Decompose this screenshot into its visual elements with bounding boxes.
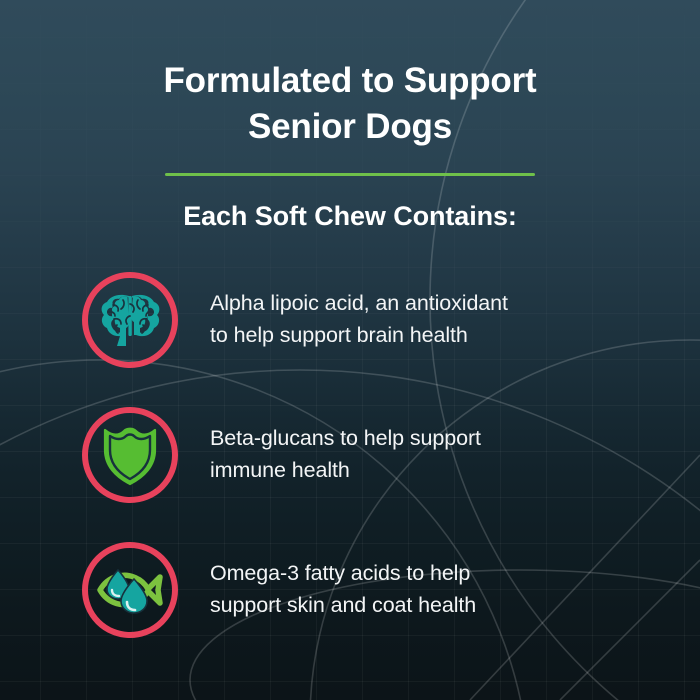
list-item: Alpha lipoic acid, an antioxidant to hel…: [0, 268, 700, 372]
feature-list: Alpha lipoic acid, an antioxidant to hel…: [0, 268, 700, 673]
badge-shield: [82, 407, 178, 503]
page-title: Formulated to Support Senior Dogs: [0, 0, 700, 149]
badge-brain: [82, 272, 178, 368]
poster-header: Formulated to Support Senior Dogs Each S…: [0, 0, 700, 232]
feature-line: to help support brain health: [210, 320, 508, 352]
list-item: Beta-glucans to help support immune heal…: [0, 403, 700, 507]
list-item: Omega-3 fatty acids to help support skin…: [0, 538, 700, 642]
fish-droplet-icon: [96, 565, 164, 615]
feature-line: immune health: [210, 455, 481, 487]
brain-icon: [99, 292, 161, 348]
feature-line: Beta-glucans to help support: [210, 423, 481, 455]
page-subtitle: Each Soft Chew Contains:: [0, 176, 700, 232]
feature-line: Alpha lipoic acid, an antioxidant: [210, 288, 508, 320]
title-line-2: Senior Dogs: [0, 104, 700, 150]
feature-line: Omega-3 fatty acids to help: [210, 558, 476, 590]
feature-text-shield: Beta-glucans to help support immune heal…: [210, 423, 481, 487]
feature-line: support skin and coat health: [210, 590, 476, 622]
title-line-1: Formulated to Support: [0, 58, 700, 104]
shield-icon: [102, 424, 158, 486]
feature-text-brain: Alpha lipoic acid, an antioxidant to hel…: [210, 288, 508, 352]
badge-fish-droplet: [82, 542, 178, 638]
feature-text-omega3: Omega-3 fatty acids to help support skin…: [210, 558, 476, 622]
poster-canvas: Formulated to Support Senior Dogs Each S…: [0, 0, 700, 700]
